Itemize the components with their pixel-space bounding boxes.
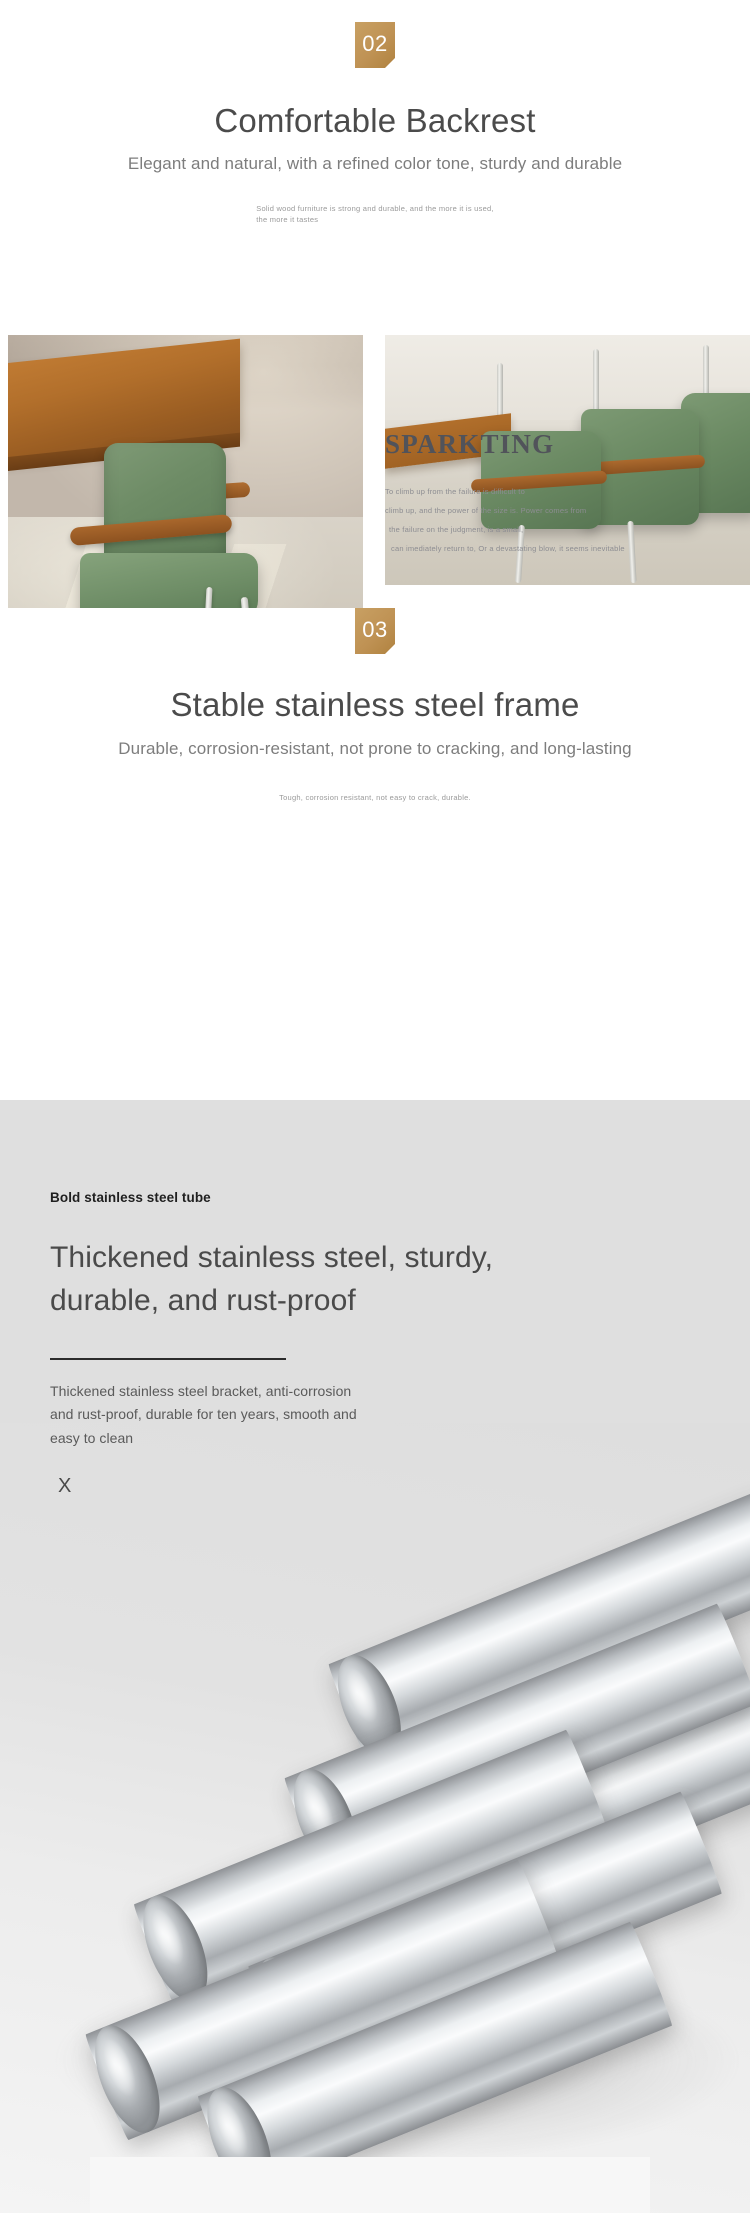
badge-02-wrapper: 02 [0,0,750,68]
chair-backrest-shape [104,443,226,569]
steel-heading-line-2: durable, and rust-proof [50,1284,356,1317]
section-03-caption: Tough, corrosion resistant, not easy to … [279,792,471,803]
section-03-caption-wrapper: Tough, corrosion resistant, not easy to … [0,787,750,805]
steel-paragraph: Thickened stainless steel bracket, anti-… [50,1380,360,1450]
section-03-title: Stable stainless steel frame [0,684,750,725]
badge-03-wrapper: 03 [0,608,750,654]
steel-heading-line-1: Thickened stainless steel, sturdy, [50,1241,493,1274]
steel-feature-section: Bold stainless steel tube Thickened stai… [0,1100,750,2213]
section-02-caption: Solid wood furniture is strong and durab… [256,203,494,226]
section-02-title: Comfortable Backrest [0,100,750,141]
sparkting-block: SPARKTING To climb up from the failure i… [385,430,725,558]
sparkting-line-2: climb up, and the power of the size is. … [385,501,725,520]
product-detail-page: 02 Comfortable Backrest Elegant and natu… [0,0,750,2213]
section-02-caption-line-1: Solid wood furniture is strong and durab… [256,203,494,214]
sparkting-title: SPARKTING [385,430,725,460]
sparkting-body: To climb up from the failure is difficul… [385,482,725,559]
section-03-header: 03 Stable stainless steel frame Durable,… [0,608,750,805]
section-02-subtitle: Elegant and natural, with a refined colo… [0,153,750,176]
steel-heading: Thickened stainless steel, sturdy, durab… [50,1237,520,1322]
photo-bottom-strip [90,2157,650,2213]
steel-bar-6-end-cap [82,2016,173,2141]
section-03-subtitle: Durable, corrosion-resistant, not prone … [0,738,750,761]
close-icon[interactable]: X [58,1476,520,1496]
sparkting-line-3: the failure on the judgment, is a small, [385,520,725,539]
steel-bars-photo [0,1423,750,2213]
section-02-header: 02 Comfortable Backrest Elegant and natu… [0,0,750,227]
section-02-caption-wrapper: Solid wood furniture is strong and durab… [0,203,750,227]
sparkting-line-1: To climb up from the failure is difficul… [385,482,725,501]
section-02-caption-line-2: the more it tastes [256,214,494,225]
sparkting-line-4: can imediately return to, Or a devastati… [385,539,725,558]
steel-divider-rule [50,1358,286,1360]
section-number-badge-02: 02 [355,22,395,68]
section-number-badge-03: 03 [355,608,395,654]
steel-copy-block: Bold stainless steel tube Thickened stai… [50,1190,520,1496]
steel-eyebrow-label: Bold stainless steel tube [50,1190,520,1205]
section-03-caption-line-1: Tough, corrosion resistant, not easy to … [279,792,471,803]
